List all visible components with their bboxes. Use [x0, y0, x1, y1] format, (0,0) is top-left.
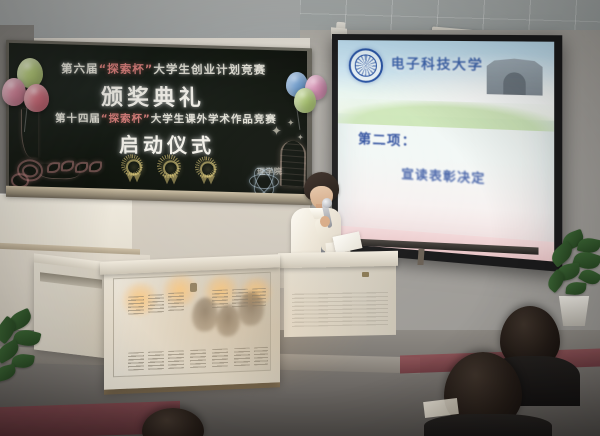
blackboard-line-1: 第六届“探索杯”大学生创业计划竞赛 — [61, 60, 267, 77]
campus-building-icon — [487, 58, 543, 95]
cabinet-vent — [168, 350, 184, 369]
university-seal-icon — [349, 48, 383, 83]
podium-cabinet — [104, 262, 280, 389]
microphone-head — [322, 198, 332, 208]
projection-screen-surface: 电子科技大学 第二项： 宣读表彰决定 — [338, 40, 554, 262]
cabinet-vent — [148, 351, 164, 370]
cabinet-lock-icon — [362, 272, 369, 277]
audience-shoulders — [424, 414, 552, 436]
cabinet-keyhole-icon — [190, 283, 197, 292]
cabinet-vent — [168, 292, 184, 311]
plant-left — [0, 312, 50, 392]
side-desk-top — [278, 251, 398, 269]
chalk-medal-icon — [195, 156, 217, 179]
projection-screen-frame[interactable]: 电子科技大学 第二项： 宣读表彰决定 — [332, 34, 562, 272]
balloon-pink-left-lower — [24, 84, 49, 112]
blackboard-line-2: 颁奖典礼 — [101, 79, 205, 112]
cabinet-vent — [190, 349, 206, 368]
plant-right — [540, 232, 600, 302]
chalk-star-icon: ✦ — [297, 133, 304, 142]
cabinet-vent — [128, 296, 144, 315]
chalk-medal-icon — [157, 154, 181, 179]
slide-banner: 电子科技大学 — [338, 40, 554, 121]
cabinet-vent — [232, 289, 248, 308]
chalk-star-icon: ✦ — [271, 124, 282, 139]
balloon-pink-left-upper — [2, 78, 26, 106]
chalk-medal-icon — [121, 154, 143, 177]
cabinet-vent — [254, 347, 268, 366]
chalk-star-icon: ✦ — [287, 119, 295, 129]
presenter-hand — [320, 216, 330, 227]
cabinet-vent — [252, 288, 266, 307]
blackboard: 第六届“探索杯”大学生创业计划竞赛 颁奖典礼 第十四届“探索杯”大学生课外学术作… — [9, 43, 307, 197]
cabinet-vent — [212, 289, 228, 308]
slide-line-2: 宣读表彰决定 — [401, 164, 485, 186]
cabinet-vent — [128, 352, 144, 371]
slide-line-1: 第二项： — [358, 128, 416, 150]
slide-university-name: 电子科技大学 — [391, 53, 484, 74]
cabinet-vent — [234, 348, 250, 367]
university-seal-inner — [355, 55, 377, 77]
cabinet-vent — [148, 294, 164, 313]
blackboard-line-3: 第十四届“探索杯”大学生课外学术作品竞赛 — [55, 111, 277, 127]
slide-body: 第二项： 宣读表彰决定 — [338, 113, 554, 244]
balloon-green-right — [294, 88, 316, 113]
lecture-hall-photo: 第六届“探索杯”大学生创业计划竞赛 颁奖典礼 第十四届“探索杯”大学生课外学术作… — [0, 0, 600, 436]
head-shadow — [216, 304, 240, 337]
projection-screen-support — [417, 249, 424, 265]
side-desk-vent — [292, 291, 388, 327]
cabinet-vent — [212, 348, 228, 367]
